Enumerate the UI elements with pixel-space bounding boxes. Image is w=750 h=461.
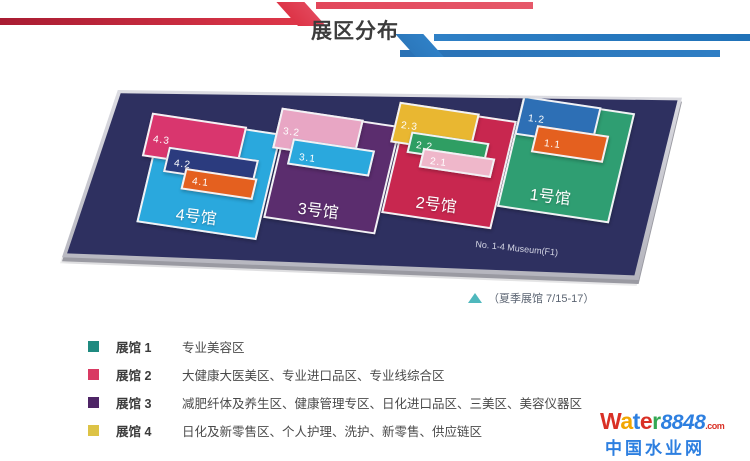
- hall-2-sub-2-1-label: 2.1: [429, 156, 447, 169]
- hall-1-sub-1-1-label: 1.1: [543, 138, 561, 151]
- museum-floor-label: No. 1-4 Museum(F1): [475, 239, 559, 258]
- watermark-letter-w: W: [600, 408, 620, 434]
- hall-2-sub-2-3-label: 2.3: [400, 120, 418, 133]
- hall-2-sub-2-2-label: 2.2: [415, 140, 433, 153]
- page-title: 展区分布: [311, 15, 399, 45]
- watermark-brand-cn: 中国水业网: [605, 434, 705, 459]
- hall-2-name: 2号馆: [415, 189, 459, 218]
- hall-1-sub-1-2-label: 1.2: [527, 113, 545, 126]
- legend-hall-3-label: 展馆 3: [116, 393, 182, 412]
- header-blue-bar-right: [434, 34, 750, 41]
- legend-hall-1-desc: 专业美容区: [182, 337, 245, 356]
- map-board-surface: 4.3 4.2 4.1 4号馆 3.2 3.1 3号馆 2.3: [64, 91, 680, 278]
- map-caption: （夏季展馆 7/15-17）: [468, 290, 594, 306]
- map-board: 4.3 4.2 4.1 4号馆 3.2 3.1 3号馆 2.3: [60, 88, 680, 288]
- watermark-brand-latin: Water8848.com: [600, 408, 724, 435]
- header-red-bar-top: [316, 2, 533, 9]
- triangle-up-icon: [468, 293, 482, 303]
- exhibition-map: 4.3 4.2 4.1 4号馆 3.2 3.1 3号馆 2.3: [0, 78, 750, 308]
- legend-hall-2-label: 展馆 2: [116, 365, 182, 384]
- hall-3-sub-3-2-label: 3.2: [282, 126, 300, 139]
- legend-swatch-hall-4: [88, 425, 99, 436]
- hall-4-sub-4-3-label: 4.3: [152, 134, 170, 147]
- hall-4-name: 4号馆: [175, 201, 219, 230]
- watermark-letter-r: r: [652, 408, 660, 434]
- legend-hall-4-label: 展馆 4: [116, 421, 182, 440]
- hall-4-sub-4-1-label: 4.1: [191, 176, 209, 189]
- legend-hall-3-desc: 减肥纤体及养生区、健康管理专区、日化进口品区、三美区、美容仪器区: [182, 393, 582, 412]
- legend-swatch-hall-3: [88, 397, 99, 408]
- hall-3-name: 3号馆: [297, 195, 341, 224]
- legend: 展馆 1 专业美容区 展馆 2 大健康大医美区、专业进口品区、专业线综合区 展馆…: [88, 332, 688, 444]
- legend-hall-4-desc: 日化及新零售区、个人护理、洗护、新零售、供应链区: [182, 421, 482, 440]
- watermark-letter-a: a: [620, 408, 632, 434]
- legend-row[interactable]: 展馆 1 专业美容区: [88, 332, 688, 360]
- map-caption-text: （夏季展馆 7/15-17）: [488, 293, 594, 305]
- site-watermark: Water8848.com 中国水业网: [600, 408, 746, 458]
- legend-swatch-hall-1: [88, 341, 99, 352]
- legend-row[interactable]: 展馆 3 减肥纤体及养生区、健康管理专区、日化进口品区、三美区、美容仪器区: [88, 388, 688, 416]
- watermark-letter-t: t: [633, 408, 640, 434]
- hall-3-sub-3-1-label: 3.1: [298, 152, 316, 165]
- page-header: 展区分布: [0, 0, 750, 72]
- legend-row[interactable]: 展馆 2 大健康大医美区、专业进口品区、专业线综合区: [88, 360, 688, 388]
- watermark-dotcom: .com: [705, 421, 724, 431]
- legend-hall-1-label: 展馆 1: [116, 337, 182, 356]
- watermark-number: 8848: [661, 411, 706, 434]
- header-red-bar-left: [0, 18, 310, 25]
- legend-swatch-hall-2: [88, 369, 99, 380]
- legend-hall-2-desc: 大健康大医美区、专业进口品区、专业线综合区: [182, 365, 445, 384]
- header-blue-bar-left: [400, 50, 720, 57]
- hall-1-name: 1号馆: [529, 181, 573, 210]
- hall-4-sub-4-2-label: 4.2: [173, 158, 191, 171]
- watermark-letter-e: e: [640, 408, 652, 434]
- legend-row[interactable]: 展馆 4 日化及新零售区、个人护理、洗护、新零售、供应链区: [88, 416, 688, 444]
